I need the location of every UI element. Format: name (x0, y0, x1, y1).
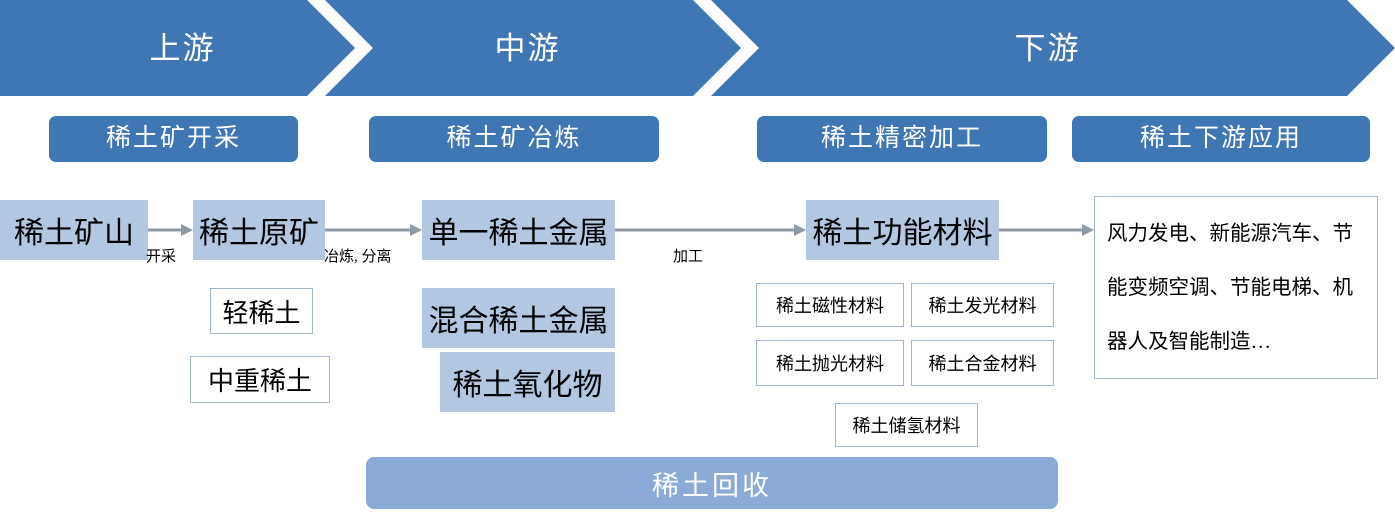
stage-header-precision-processing[interactable]: 稀土精密加工 (757, 116, 1047, 162)
arrow-processing (615, 222, 806, 238)
banner-label-upstream: 上游 (60, 0, 305, 97)
arrow-smelting-separation (325, 222, 422, 238)
banner-label-midstream: 中游 (395, 0, 660, 97)
node-light-rare-earth[interactable]: 轻稀土 (210, 288, 313, 334)
node-alloy-materials[interactable]: 稀土合金材料 (911, 340, 1054, 386)
node-rare-earth-mine[interactable]: 稀土矿山 (0, 200, 148, 260)
stage-header-downstream-application[interactable]: 稀土下游应用 (1072, 116, 1370, 162)
node-functional-materials[interactable]: 稀土功能材料 (806, 200, 999, 260)
arrow-caption-mining: 开采 (146, 245, 176, 266)
recycle-bar[interactable]: 稀土回收 (366, 457, 1058, 509)
node-luminescent-materials[interactable]: 稀土发光材料 (911, 283, 1054, 327)
node-medium-heavy-rare-earth[interactable]: 中重稀土 (190, 356, 330, 403)
arrow-caption-processing: 加工 (673, 245, 703, 266)
arrow-caption-smelting-separation: 冶炼, 分离 (324, 245, 392, 266)
stage-header-mining[interactable]: 稀土矿开采 (49, 116, 298, 162)
node-application-list[interactable]: 风力发电、新能源汽车、节能变频空调、节能电梯、机器人及智能制造… (1094, 196, 1378, 379)
node-rare-earth-oxide[interactable]: 稀土氧化物 (440, 352, 615, 412)
value-chain-banner: 上游 中游 下游 (0, 0, 1395, 97)
node-magnetic-materials[interactable]: 稀土磁性材料 (756, 283, 904, 327)
banner-label-downstream: 下游 (760, 0, 1335, 97)
arrow-mining (148, 222, 193, 238)
arrow-to-applications (999, 222, 1094, 238)
node-single-rare-earth-metal[interactable]: 单一稀土金属 (422, 200, 615, 260)
stage-header-smelting[interactable]: 稀土矿冶炼 (369, 116, 659, 162)
node-mixed-rare-earth-metal[interactable]: 混合稀土金属 (422, 288, 615, 348)
node-raw-ore[interactable]: 稀土原矿 (193, 200, 325, 260)
node-polishing-materials[interactable]: 稀土抛光材料 (756, 340, 904, 386)
node-hydrogen-storage-materials[interactable]: 稀土储氢材料 (835, 403, 978, 447)
